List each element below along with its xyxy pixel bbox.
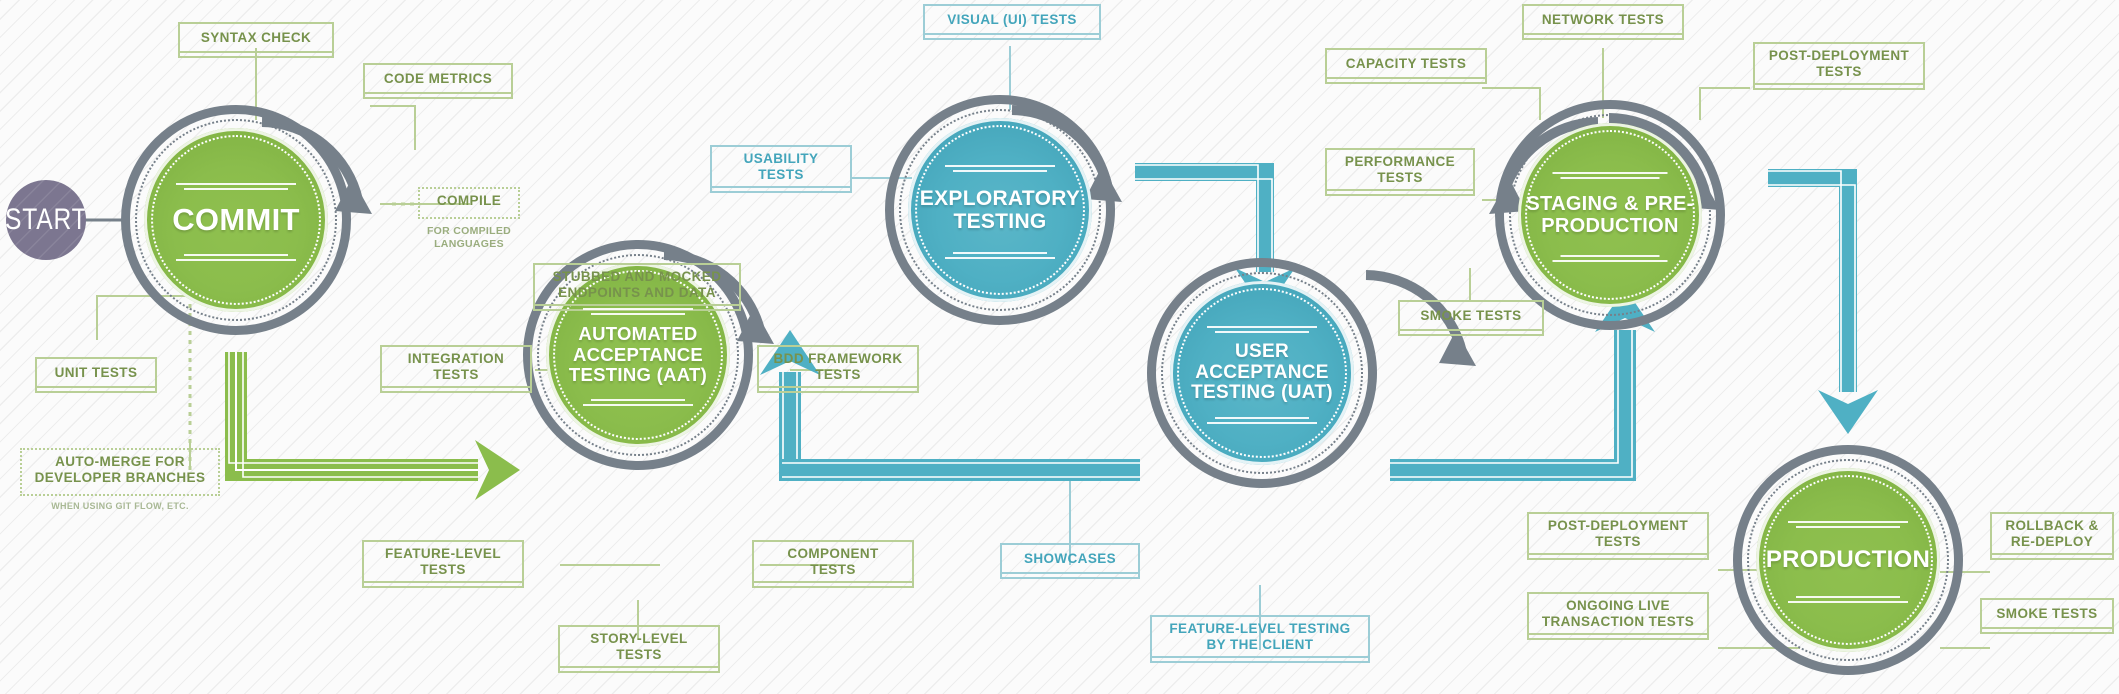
label-component-tests[interactable]: COMPONENT TESTS bbox=[752, 540, 914, 588]
stage-node-production[interactable]: PRODUCTION bbox=[1733, 445, 1963, 675]
label-code-metrics[interactable]: CODE METRICS bbox=[363, 63, 513, 99]
label-integration-tests[interactable]: INTEGRATION TESTS bbox=[380, 345, 532, 393]
start-label: START bbox=[6, 203, 86, 237]
label-syntax-check[interactable]: SYNTAX CHECK bbox=[178, 22, 334, 58]
label-stubbed-mocked[interactable]: STUBBED AND MOCKED ENDPOINTS AND DATA bbox=[533, 263, 741, 311]
uat-title: USER ACCEPTANCE TESTING (UAT) bbox=[1170, 342, 1354, 405]
label-smoke-tests-production[interactable]: SMOKE TESTS bbox=[1980, 598, 2114, 634]
label-rollback-redeploy[interactable]: ROLLBACK & RE-DEPLOY bbox=[1990, 512, 2114, 560]
exploratory-bar-top bbox=[945, 162, 1055, 172]
commit-bar-bottom bbox=[176, 254, 296, 264]
aat-bar-top bbox=[583, 305, 693, 315]
aat-bar-bottom bbox=[583, 399, 693, 409]
label-post-deployment-tests-staging[interactable]: POST-DEPLOYMENT TESTS bbox=[1753, 42, 1925, 90]
stage-node-uat[interactable]: USER ACCEPTANCE TESTING (UAT) bbox=[1147, 258, 1377, 488]
label-compile[interactable]: COMPILE bbox=[418, 187, 520, 219]
uat-bar-top bbox=[1207, 323, 1317, 333]
staging-bar-top bbox=[1553, 169, 1668, 179]
label-network-tests[interactable]: NETWORK TESTS bbox=[1522, 4, 1684, 40]
label-showcases[interactable]: SHOWCASES bbox=[1000, 543, 1140, 579]
label-visual-ui-tests[interactable]: VISUAL (UI) TESTS bbox=[923, 4, 1101, 40]
label-feature-level-tests[interactable]: FEATURE-LEVEL TESTS bbox=[362, 540, 524, 588]
label-compile-note: FOR COMPILED LANGUAGES bbox=[410, 225, 528, 251]
diagram-canvas: START COMMIT AUTOMATED ACCEPTANCE TESTIN… bbox=[0, 0, 2119, 694]
uat-bar-bottom bbox=[1207, 417, 1317, 427]
start-node[interactable]: START bbox=[6, 180, 86, 260]
staging-title: STAGING & PRE-PRODUCTION bbox=[1518, 193, 1702, 237]
label-performance-tests[interactable]: PERFORMANCE TESTS bbox=[1325, 148, 1475, 196]
label-smoke-tests-staging[interactable]: SMOKE TESTS bbox=[1398, 300, 1544, 336]
label-bdd-framework-tests[interactable]: BDD FRAMEWORK TESTS bbox=[757, 345, 919, 393]
production-bar-top bbox=[1788, 518, 1908, 528]
production-title: PRODUCTION bbox=[1760, 547, 1936, 573]
label-capacity-tests[interactable]: CAPACITY TESTS bbox=[1325, 48, 1487, 84]
stage-node-staging[interactable]: STAGING & PRE-PRODUCTION bbox=[1495, 100, 1725, 330]
commit-bar-top bbox=[176, 180, 296, 190]
staging-bar-bottom bbox=[1553, 255, 1668, 265]
label-post-deployment-tests-production[interactable]: POST-DEPLOYMENT TESTS bbox=[1527, 512, 1709, 560]
label-ongoing-live-transaction-tests[interactable]: ONGOING LIVE TRANSACTION TESTS bbox=[1527, 592, 1709, 640]
flow-aat-to-uat bbox=[782, 463, 1140, 477]
flow-staging-to-production bbox=[1768, 171, 1878, 434]
aat-title: AUTOMATED ACCEPTANCE TESTING (AAT) bbox=[546, 324, 730, 385]
label-feature-level-client[interactable]: FEATURE-LEVEL TESTING BY THE CLIENT bbox=[1150, 615, 1370, 663]
commit-title: COMMIT bbox=[166, 203, 306, 237]
label-auto-merge-note: WHEN USING GIT FLOW, ETC. bbox=[20, 501, 220, 512]
label-usability-tests[interactable]: USABILITY TESTS bbox=[710, 145, 852, 193]
label-unit-tests[interactable]: UNIT TESTS bbox=[35, 357, 157, 393]
label-story-level-tests[interactable]: STORY-LEVEL TESTS bbox=[558, 625, 720, 673]
exploratory-title: EXPLORATORY TESTING bbox=[908, 187, 1092, 233]
label-auto-merge[interactable]: AUTO-MERGE FOR DEVELOPER BRANCHES bbox=[20, 448, 220, 496]
exploratory-bar-bottom bbox=[945, 252, 1055, 262]
production-bar-bottom bbox=[1788, 596, 1908, 606]
stage-node-commit[interactable]: COMMIT bbox=[121, 105, 351, 335]
stage-node-exploratory[interactable]: EXPLORATORY TESTING bbox=[885, 95, 1115, 325]
